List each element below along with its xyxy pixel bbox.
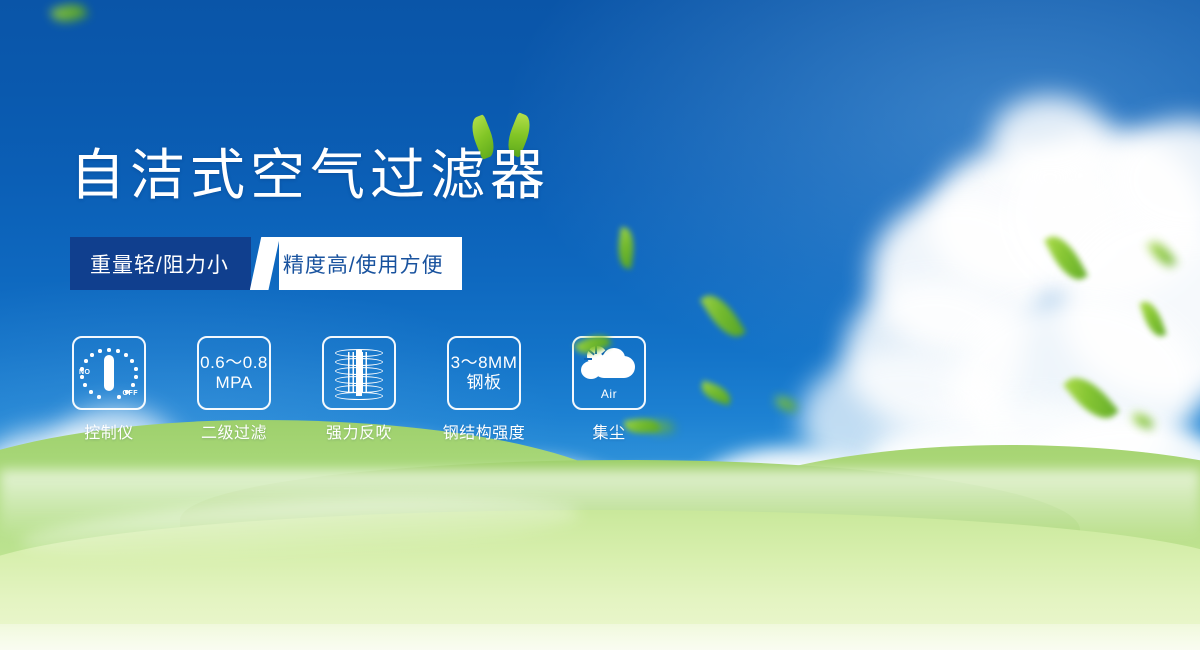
air-label: Air (601, 387, 617, 401)
badge-right: 精度高/使用方便 (279, 237, 462, 290)
feature-icon-box: NO OFF (72, 336, 146, 410)
feature-text-line2: MPA (200, 373, 268, 393)
feature-icon-box: 3〜8MM 钢板 (447, 336, 521, 410)
feature-text-line1: 0.6〜0.8 (200, 353, 268, 372)
badge-diagonal-divider (250, 237, 280, 290)
feature-text-line1: 3〜8MM (451, 353, 518, 372)
feature-item[interactable]: 3〜8MM 钢板 钢结构强度 (447, 336, 521, 443)
tagline-badges: 重量轻/阻力小 精度高/使用方便 (70, 237, 462, 290)
feature-label: 强力反吹 (326, 419, 392, 443)
gauge-dial-icon: NO OFF (80, 346, 138, 400)
feature-item[interactable]: NO OFF (72, 336, 146, 443)
feature-label: 集尘 (592, 419, 625, 443)
pressure-text-icon: 0.6〜0.8 MPA (200, 353, 268, 392)
feature-label: 控制仪 (84, 419, 134, 443)
coil-filter-icon (332, 346, 386, 400)
steel-thickness-text-icon: 3〜8MM 钢板 (451, 353, 518, 392)
feature-list: NO OFF (72, 336, 646, 443)
product-hero-banner: 自洁式空气过滤器 重量轻/阻力小 精度高/使用方便 NO OFF (0, 0, 1200, 650)
banner-content: 自洁式空气过滤器 重量轻/阻力小 精度高/使用方便 NO OFF (0, 0, 1200, 650)
feature-icon-box (322, 336, 396, 410)
feature-icon-box: 0.6〜0.8 MPA (197, 336, 271, 410)
feature-label: 二级过滤 (201, 419, 267, 443)
feature-item[interactable]: 0.6〜0.8 MPA 二级过滤 (197, 336, 271, 443)
page-title: 自洁式空气过滤器 (70, 145, 550, 206)
badge-left: 重量轻/阻力小 (70, 237, 251, 290)
feature-label: 钢结构强度 (443, 419, 526, 443)
feature-item[interactable]: 强力反吹 (322, 336, 396, 443)
feature-text-line2: 钢板 (451, 373, 518, 393)
